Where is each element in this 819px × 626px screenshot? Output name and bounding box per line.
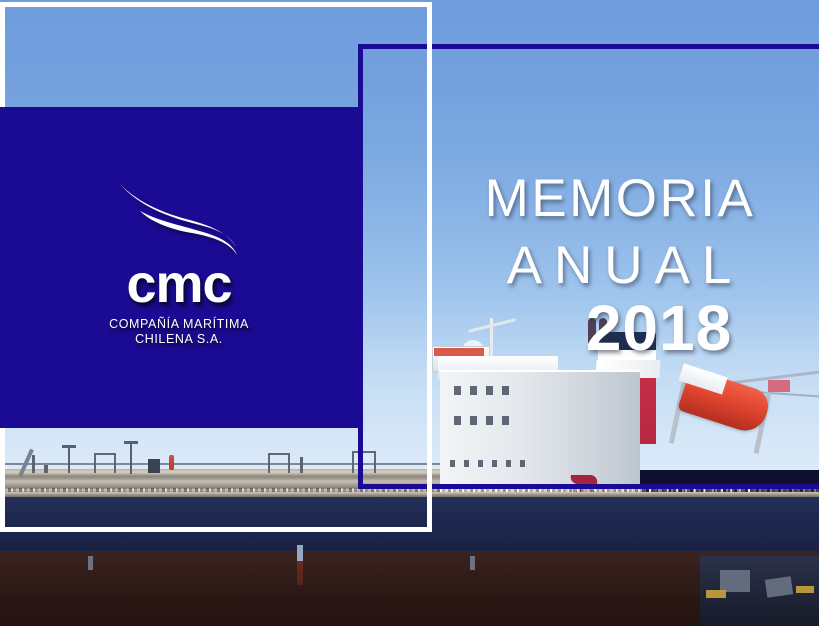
pier-lamp-post-1 (68, 445, 70, 473)
hull-draft-marking (297, 545, 303, 585)
quay-machinery (706, 590, 726, 598)
report-cover: cmc (0, 0, 819, 626)
pier-gantry-3 (352, 451, 376, 473)
window (502, 416, 509, 425)
cmc-logo: cmc COMPAÑÍA MARÍTIMA CHILENA S.A. (79, 181, 279, 348)
person-in-red (169, 455, 174, 470)
pier-railing (0, 463, 470, 465)
pier-mast-right (300, 457, 303, 473)
ship-hull-lower (0, 551, 819, 626)
window (470, 386, 477, 395)
quay-machinery-2 (796, 586, 814, 593)
hull-anchor-mark-1 (88, 556, 93, 570)
brand-panel: cmc COMPAÑÍA MARÍTIMA CHILENA S.A. (0, 107, 358, 428)
hull-anchor-mark-2 (470, 556, 475, 570)
window (486, 416, 493, 425)
window (450, 460, 455, 467)
shore-crane-cab (768, 380, 790, 392)
window (464, 460, 469, 467)
bridge-wing-red-band (434, 348, 484, 356)
pier-crane-mast (32, 455, 35, 473)
quay-equipment-2 (765, 576, 793, 597)
ship-hull-upper (0, 497, 819, 557)
quay-foreground (700, 556, 819, 626)
window (454, 386, 461, 395)
pier-gantry-1 (94, 453, 116, 473)
logo-subtitle: COMPAÑÍA MARÍTIMA CHILENA S.A. (109, 317, 249, 348)
pier-gantry-2 (268, 453, 290, 473)
window (506, 460, 511, 467)
window (486, 386, 493, 395)
window-row-2 (454, 416, 509, 425)
pier-bollard-1 (44, 465, 48, 473)
window (520, 460, 525, 467)
logo-subtitle-line2: CHILENA S.A. (109, 332, 249, 348)
pier-lamp-post-2 (130, 441, 132, 474)
logo-wordmark: cmc (126, 259, 231, 310)
ship-logo-swoosh-icon (569, 475, 599, 484)
window (478, 460, 483, 467)
window (492, 460, 497, 467)
window (502, 386, 509, 395)
ship-superstructure: cmc (430, 318, 760, 498)
accommodation-block: cmc (440, 370, 640, 498)
window (470, 416, 477, 425)
window-row-3 (450, 460, 525, 467)
wing-swoosh-icon (116, 181, 242, 257)
window-row-1 (454, 386, 509, 395)
window (454, 416, 461, 425)
quay-equipment-1 (720, 570, 750, 592)
pier-equipment-box (148, 459, 160, 473)
logo-subtitle-line1: COMPAÑÍA MARÍTIMA (109, 317, 249, 333)
